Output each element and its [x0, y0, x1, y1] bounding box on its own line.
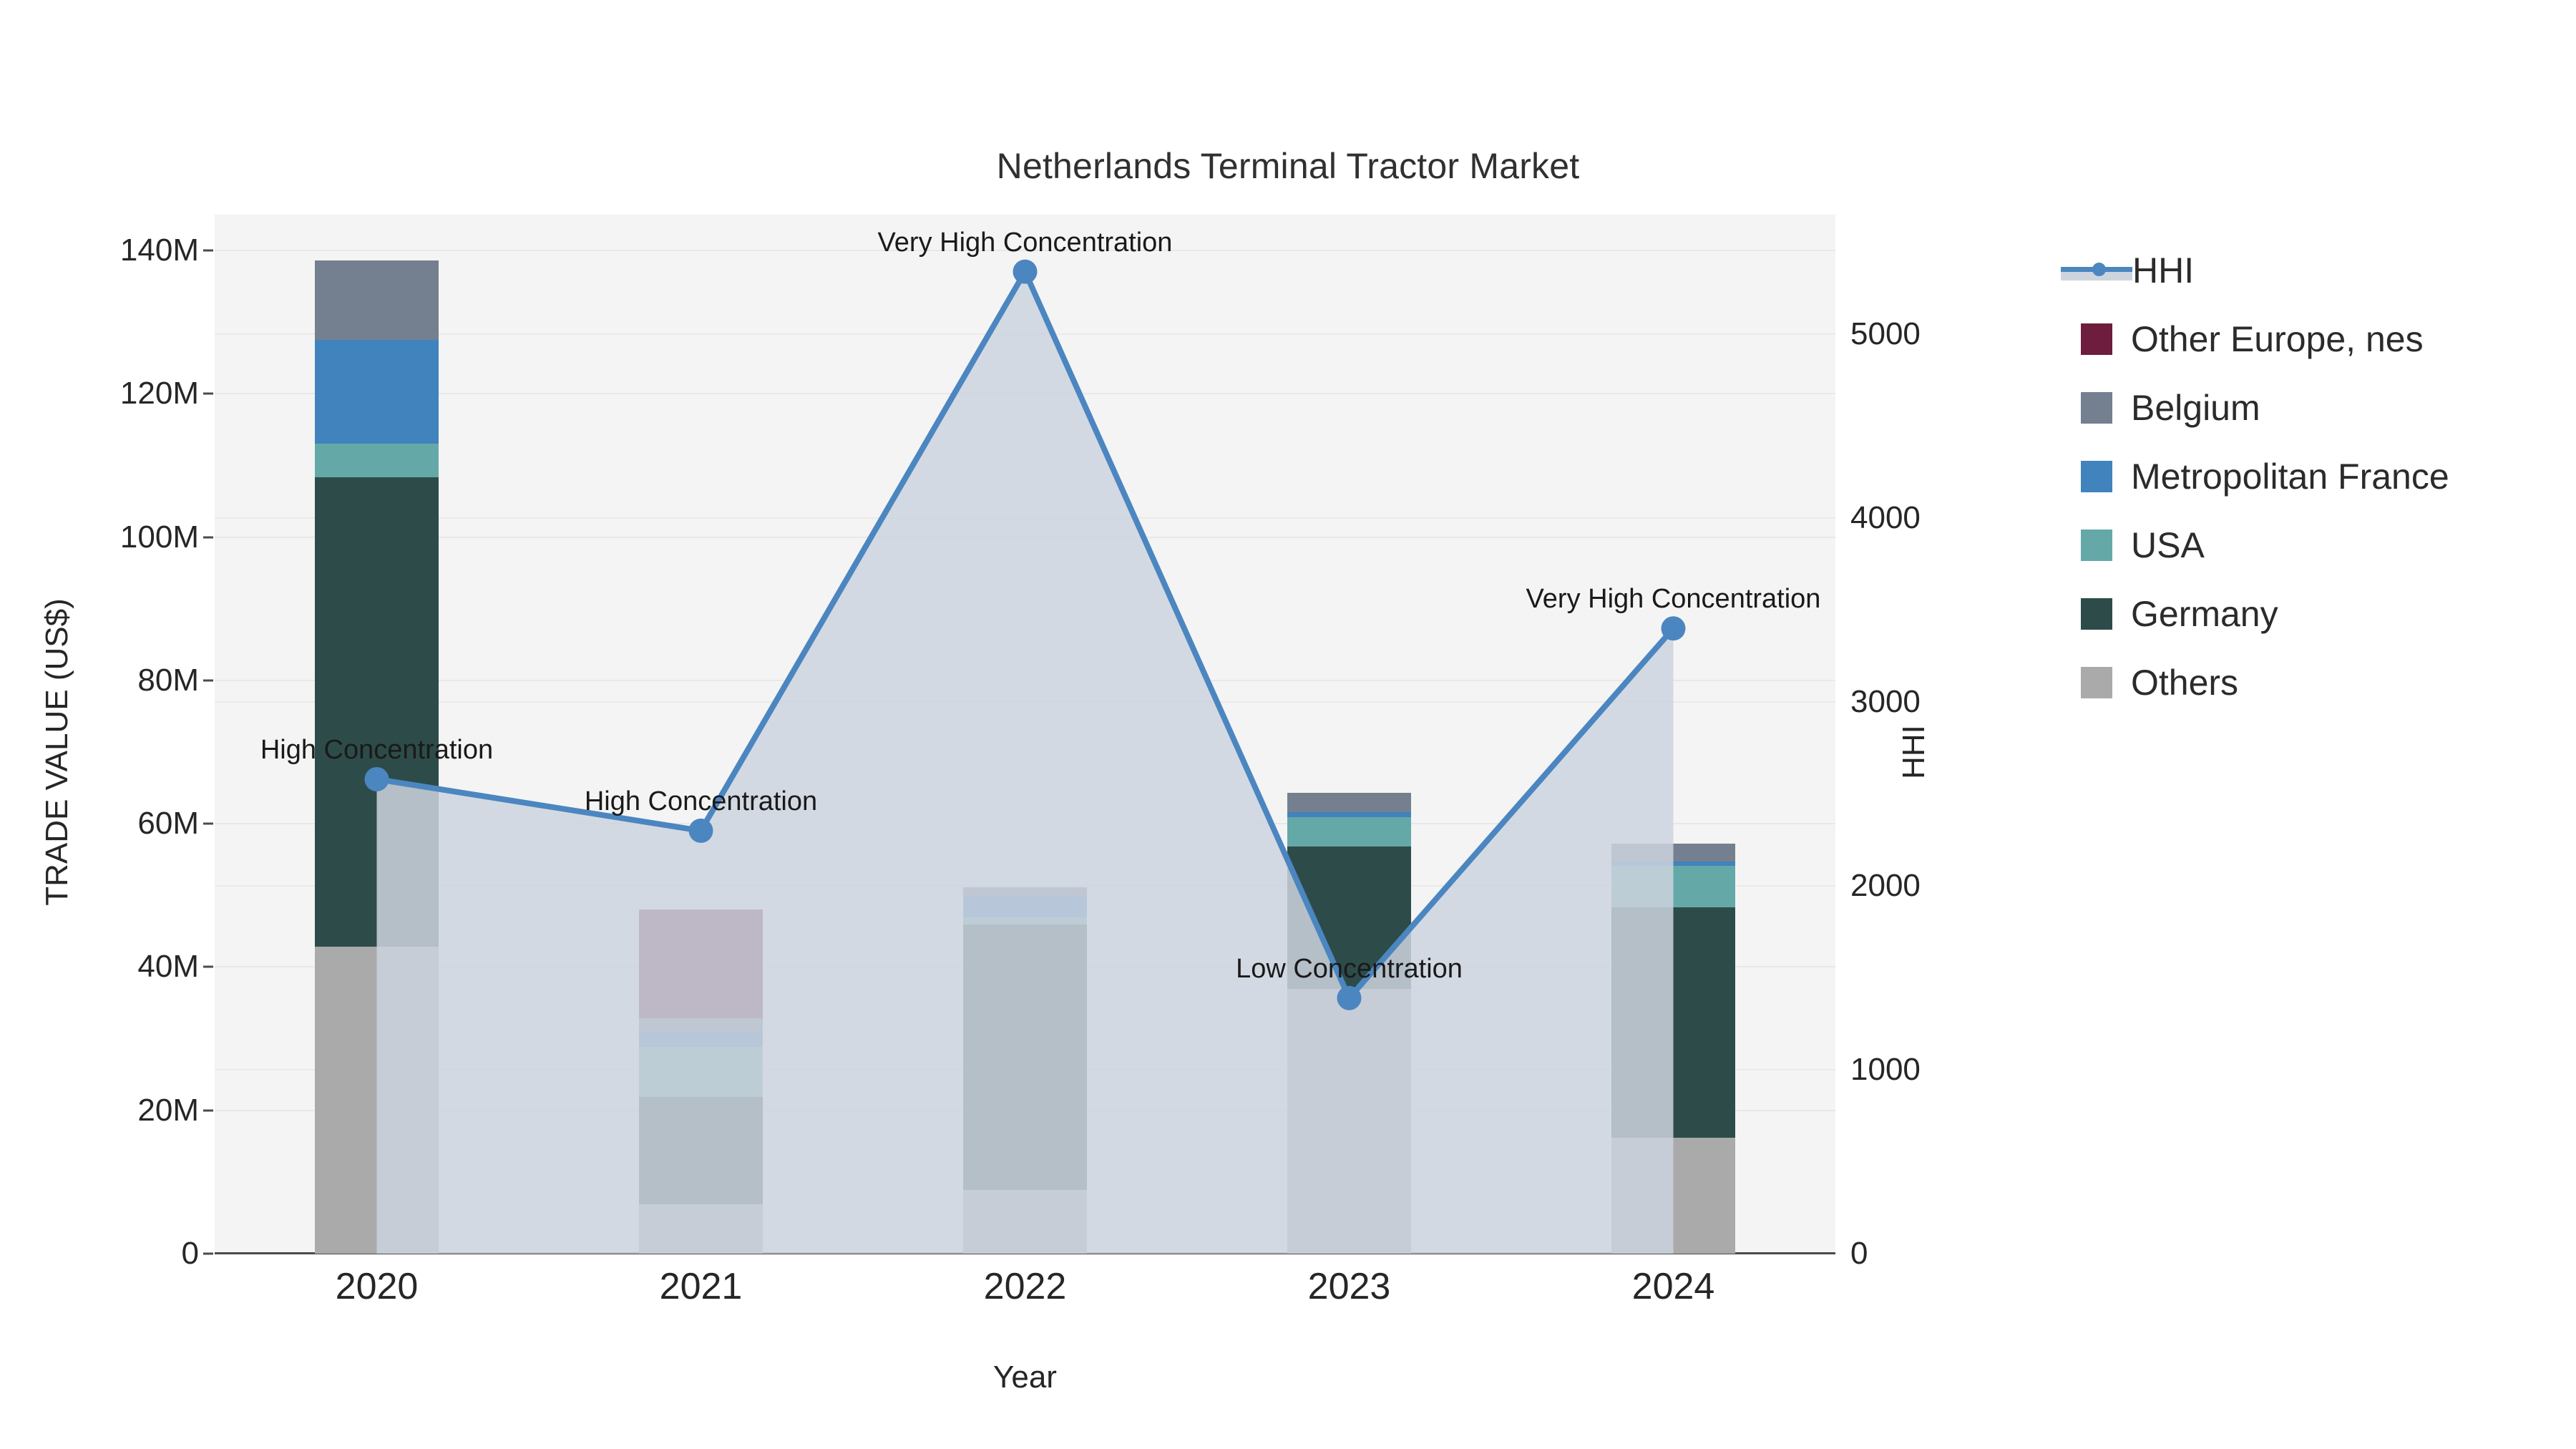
y-axis-left-tick-mark: [203, 823, 213, 825]
y-axis-left-tick-label: 140M: [120, 233, 199, 268]
y-axis-right-tick-label: 1000: [1850, 1052, 1921, 1088]
y-axis-left-tick-mark: [203, 1109, 213, 1111]
x-axis-label: Year: [215, 1360, 1835, 1395]
x-axis-tick-label: 2021: [660, 1265, 743, 1308]
legend-color-swatch: [2081, 530, 2112, 561]
x-axis-tick-label: 2024: [1632, 1265, 1715, 1308]
hhi-area-fill: [377, 272, 1674, 1254]
y-axis-left-label: TRADE VALUE (US$): [39, 480, 75, 1024]
y-axis-left-tick-mark: [203, 1253, 213, 1255]
chart-title-line1: Netherlands Terminal Tractor Market: [0, 143, 2576, 189]
x-axis-tick-label: 2020: [336, 1265, 419, 1308]
y-axis-right-tick-label: 4000: [1850, 500, 1921, 536]
legend-item[interactable]: Metropolitan France: [2061, 442, 2449, 511]
legend-item[interactable]: HHI: [2061, 236, 2449, 305]
legend-item-label: HHI: [2132, 250, 2194, 291]
legend-item[interactable]: Belgium: [2061, 374, 2449, 442]
y-axis-left-tick-mark: [203, 679, 213, 681]
legend-color-swatch: [2081, 461, 2112, 492]
legend-color-swatch: [2081, 392, 2112, 424]
hhi-data-point: [1662, 616, 1686, 640]
legend-item-label: Other Europe, nes: [2131, 318, 2424, 360]
y-axis-left-tick-label: 80M: [137, 663, 199, 698]
hhi-data-point: [1013, 260, 1038, 284]
y-axis-left-tick-label: 40M: [137, 949, 199, 985]
y-axis-left-tick-label: 20M: [137, 1093, 199, 1128]
legend-item-label: Others: [2131, 662, 2238, 703]
y-axis-left-tick-label: 100M: [120, 519, 199, 555]
y-axis-left-tick-mark: [203, 393, 213, 395]
hhi-annotation-label: High Concentration: [585, 786, 817, 817]
x-axis-tick-label: 2022: [984, 1265, 1067, 1308]
hhi-annotation-label: Very High Concentration: [878, 228, 1173, 258]
legend-item[interactable]: Others: [2061, 648, 2449, 717]
legend-item[interactable]: Germany: [2061, 580, 2449, 648]
hhi-data-point: [1337, 986, 1362, 1010]
hhi-data-point: [365, 767, 389, 791]
legend-item-label: Metropolitan France: [2131, 456, 2449, 497]
y-axis-right-tick-label: 2000: [1850, 868, 1921, 904]
y-axis-right-tick-label: 5000: [1850, 316, 1921, 352]
legend-item-label: Belgium: [2131, 387, 2260, 429]
y-axis-right-tick-label: 3000: [1850, 684, 1921, 720]
legend-color-swatch: [2081, 323, 2112, 355]
legend-item-label: Germany: [2131, 593, 2278, 635]
chart-legend: HHIOther Europe, nesBelgiumMetropolitan …: [2061, 236, 2449, 717]
x-axis-tick-label: 2023: [1308, 1265, 1391, 1308]
legend-color-swatch: [2081, 667, 2112, 698]
legend-line-icon: [2061, 255, 2132, 286]
hhi-annotation-label: Low Concentration: [1236, 954, 1463, 985]
y-axis-left-tick-label: 120M: [120, 376, 199, 411]
legend-item-label: USA: [2131, 525, 2205, 566]
y-axis-left-tick-label: 0: [182, 1236, 199, 1272]
legend-color-swatch: [2081, 598, 2112, 630]
y-axis-left-tick-mark: [203, 536, 213, 538]
hhi-annotation-label: Very High Concentration: [1526, 584, 1821, 615]
legend-item[interactable]: USA: [2061, 511, 2449, 580]
hhi-data-point: [689, 819, 713, 843]
legend-item[interactable]: Other Europe, nes: [2061, 305, 2449, 374]
y-axis-left-tick-mark: [203, 966, 213, 968]
y-axis-right-tick-label: 0: [1850, 1236, 1868, 1272]
hhi-annotation-label: High Concentration: [260, 735, 493, 766]
y-axis-left-tick-mark: [203, 250, 213, 252]
y-axis-left-tick-label: 60M: [137, 806, 199, 841]
